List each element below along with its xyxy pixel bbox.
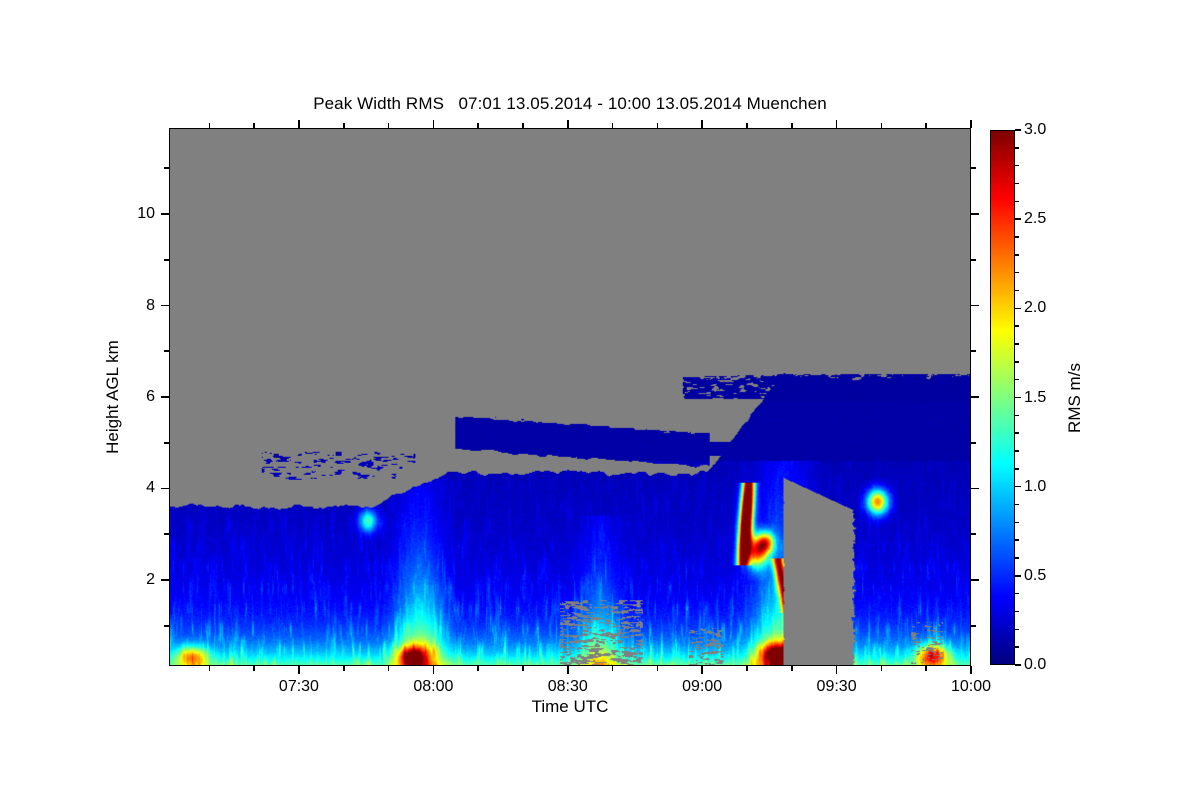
x-tick-minor — [253, 666, 255, 671]
colorbar-tick-minor — [1015, 361, 1019, 362]
y-tick-minor — [971, 625, 976, 627]
x-tick-minor — [209, 666, 211, 671]
colorbar-tick-minor — [1015, 468, 1019, 469]
colorbar-tick-minor — [1015, 432, 1019, 433]
x-tick-minor — [746, 666, 748, 671]
x-tick-major — [567, 120, 569, 128]
x-tick-minor — [522, 123, 524, 128]
x-tick-minor — [209, 123, 211, 128]
y-tick-minor — [971, 442, 976, 444]
x-tick-label: 08:30 — [548, 678, 588, 696]
x-tick-label: 08:00 — [413, 678, 453, 696]
colorbar-tick — [1015, 308, 1021, 309]
colorbar-tick-minor — [1015, 201, 1019, 202]
y-tick-label: 8 — [123, 297, 155, 315]
colorbar-tick-minor — [1015, 450, 1019, 451]
x-tick-label: 10:00 — [951, 678, 991, 696]
x-tick-major — [836, 120, 838, 128]
plot-area[interactable] — [169, 128, 971, 666]
colorbar-tick-minor — [1015, 504, 1019, 505]
x-tick-minor — [881, 123, 883, 128]
x-tick-minor — [388, 666, 390, 671]
y-tick-minor — [164, 259, 169, 261]
colorbar-tick-minor — [1015, 646, 1019, 647]
colorbar-tick — [1015, 397, 1021, 398]
x-tick-minor — [522, 666, 524, 671]
chart-title: Peak Width RMS 07:01 13.05.2014 - 10:00 … — [0, 94, 1140, 114]
x-tick-major — [298, 666, 300, 674]
heatmap-field[interactable] — [170, 129, 970, 665]
colorbar-tick — [1015, 486, 1021, 487]
x-tick-minor — [881, 666, 883, 671]
y-tick-label: 4 — [123, 479, 155, 497]
colorbar-gradient — [991, 131, 1014, 664]
colorbar-tick-minor — [1015, 343, 1019, 344]
y-tick-label: 6 — [123, 388, 155, 406]
y-tick-minor — [164, 442, 169, 444]
x-tick-minor — [791, 123, 793, 128]
colorbar-tick-minor — [1015, 379, 1019, 380]
y-tick-minor — [971, 533, 976, 535]
colorbar-title: RMS m/s — [1065, 363, 1085, 433]
y-tick-major — [161, 579, 169, 581]
colorbar-tick-label: 0.5 — [1024, 567, 1046, 585]
x-tick-minor — [612, 123, 614, 128]
colorbar-tick-minor — [1015, 147, 1019, 148]
colorbar-tick-label: 0.0 — [1024, 656, 1046, 674]
x-tick-minor — [477, 123, 479, 128]
y-tick-label: 2 — [123, 571, 155, 589]
colorbar-tick-minor — [1015, 165, 1019, 166]
y-tick-major — [971, 305, 979, 307]
colorbar-tick-minor — [1015, 236, 1019, 237]
y-tick-major — [161, 488, 169, 490]
y-tick-major — [971, 213, 979, 215]
x-tick-label: 09:00 — [682, 678, 722, 696]
x-tick-minor — [657, 123, 659, 128]
colorbar-tick-minor — [1015, 254, 1019, 255]
x-tick-label: 09:30 — [817, 678, 857, 696]
x-tick-minor — [253, 123, 255, 128]
x-tick-major — [701, 120, 703, 128]
colorbar-tick-minor — [1015, 522, 1019, 523]
y-tick-label: 10 — [123, 205, 155, 223]
x-tick-minor — [388, 123, 390, 128]
colorbar-tick-minor — [1015, 593, 1019, 594]
y-tick-major — [971, 396, 979, 398]
y-axis-title: Height AGL km — [103, 340, 123, 454]
colorbar-tick-minor — [1015, 629, 1019, 630]
y-tick-minor — [164, 350, 169, 352]
colorbar-tick-minor — [1015, 415, 1019, 416]
colorbar[interactable] — [990, 130, 1015, 665]
y-tick-minor — [971, 350, 976, 352]
y-tick-minor — [164, 167, 169, 169]
y-tick-minor — [971, 259, 976, 261]
x-tick-minor — [925, 123, 927, 128]
colorbar-tick-minor — [1015, 539, 1019, 540]
colorbar-tick-minor — [1015, 557, 1019, 558]
x-tick-minor — [612, 666, 614, 671]
x-tick-major — [298, 120, 300, 128]
figure-canvas: Peak Width RMS 07:01 13.05.2014 - 10:00 … — [0, 0, 1200, 800]
x-tick-major — [433, 666, 435, 674]
colorbar-tick-minor — [1015, 611, 1019, 612]
y-tick-major — [161, 396, 169, 398]
y-tick-minor — [164, 533, 169, 535]
x-tick-minor — [477, 666, 479, 671]
x-tick-minor — [746, 123, 748, 128]
x-tick-minor — [657, 666, 659, 671]
colorbar-tick-minor — [1015, 290, 1019, 291]
x-axis-title: Time UTC — [169, 697, 971, 717]
x-tick-major — [970, 666, 972, 674]
y-tick-major — [161, 305, 169, 307]
x-tick-minor — [791, 666, 793, 671]
colorbar-tick-label: 1.0 — [1024, 478, 1046, 496]
colorbar-tick-label: 2.5 — [1024, 210, 1046, 228]
x-tick-major — [836, 666, 838, 674]
y-tick-major — [971, 579, 979, 581]
x-tick-major — [701, 666, 703, 674]
colorbar-tick-label: 1.5 — [1024, 389, 1046, 407]
x-tick-major — [567, 666, 569, 674]
colorbar-tick — [1015, 129, 1021, 130]
x-tick-minor — [343, 666, 345, 671]
colorbar-tick — [1015, 575, 1021, 576]
x-tick-minor — [925, 666, 927, 671]
x-tick-major — [970, 120, 972, 128]
colorbar-tick-minor — [1015, 325, 1019, 326]
y-tick-major — [161, 213, 169, 215]
colorbar-tick — [1015, 218, 1021, 219]
x-tick-label: 07:30 — [279, 678, 319, 696]
x-tick-major — [433, 120, 435, 128]
colorbar-tick — [1015, 664, 1021, 665]
y-tick-major — [971, 488, 979, 490]
colorbar-tick-minor — [1015, 183, 1019, 184]
colorbar-tick-label: 2.0 — [1024, 299, 1046, 317]
x-tick-minor — [343, 123, 345, 128]
y-tick-minor — [164, 625, 169, 627]
colorbar-tick-label: 3.0 — [1024, 121, 1046, 139]
colorbar-tick-minor — [1015, 272, 1019, 273]
y-tick-minor — [971, 167, 976, 169]
